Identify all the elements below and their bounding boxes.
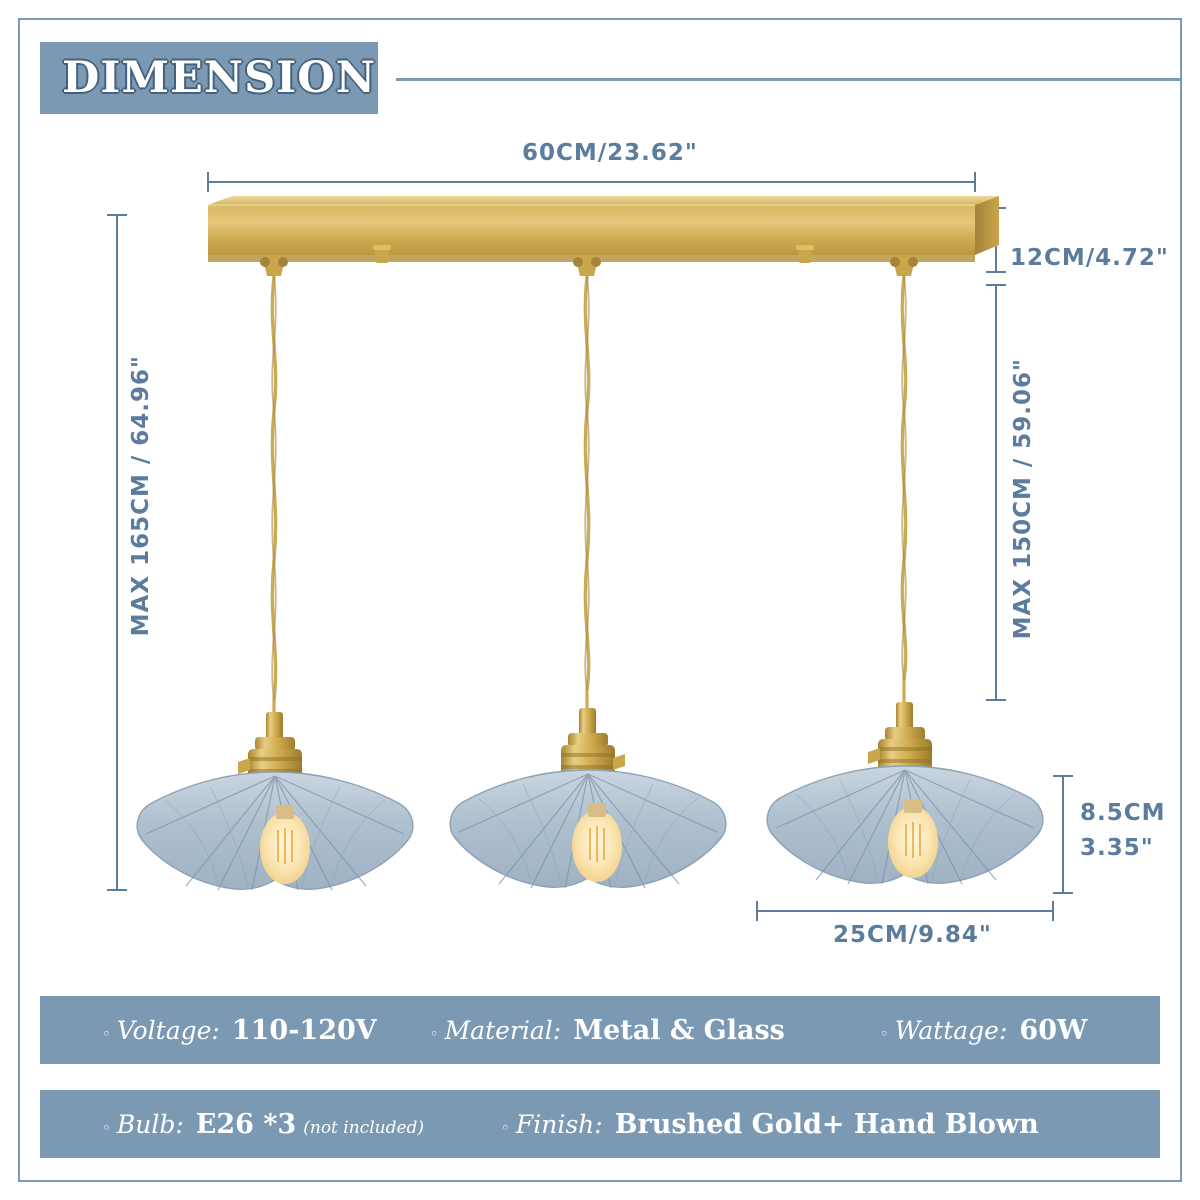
spec-bar-primary: ◦ Voltage: 110-120V ◦ Material: Metal & … [40,996,1160,1064]
spec-finish-label: Finish: [516,1110,603,1139]
spec-bulb-value: E26 *3 [196,1109,296,1140]
spec-voltage-value: 110-120V [232,1015,377,1046]
spec-material: ◦ Material: Metal & Glass [430,1015,785,1046]
spec-finish: ◦ Finish: Brushed Gold+ Hand Blown [501,1109,1039,1140]
pendant-lamp-1 [137,712,413,890]
bullet-icon: ◦ [430,1027,439,1042]
spec-finish-value: Brushed Gold+ Hand Blown [615,1109,1039,1140]
dimension-label-canopy-height: 12CM/4.72" [1010,245,1169,271]
dimension-label-shade-height-in: 3.35" [1080,835,1154,861]
dimension-label-shade-width: 25CM/9.84" [833,922,992,948]
pendant-lamp-2 [450,708,726,888]
dimension-label-max-drop-right: MAX 150CM / 59.06" [1010,358,1036,639]
spec-material-value: Metal & Glass [573,1015,785,1046]
spec-wattage: ◦ Wattage: 60W [880,1015,1087,1046]
spec-material-label: Material: [445,1016,562,1045]
bullet-icon: ◦ [880,1027,889,1042]
dimension-label-shade-height-cm: 8.5CM [1080,800,1166,826]
bullet-icon: ◦ [501,1121,510,1136]
dimension-label-max-drop-left: MAX 165CM / 64.96" [128,355,154,636]
spec-voltage-label: Voltage: [117,1016,220,1045]
bullet-icon: ◦ [102,1121,111,1136]
spec-voltage: ◦ Voltage: 110-120V [102,1015,377,1046]
spec-wattage-label: Wattage: [895,1016,1008,1045]
spec-wattage-value: 60W [1019,1015,1087,1046]
spec-bulb-label: Bulb: [117,1110,184,1139]
spec-bulb: ◦ Bulb: E26 *3 (not included) [102,1109,424,1140]
spec-bulb-note: (not included) [303,1118,424,1138]
canopy-plate [208,196,999,262]
dimension-label-overall-width: 60CM/23.62" [522,140,698,166]
pendant-lamp-3 [767,702,1043,884]
bullet-icon: ◦ [102,1027,111,1042]
spec-bar-secondary: ◦ Bulb: E26 *3 (not included) ◦ Finish: … [40,1090,1160,1158]
